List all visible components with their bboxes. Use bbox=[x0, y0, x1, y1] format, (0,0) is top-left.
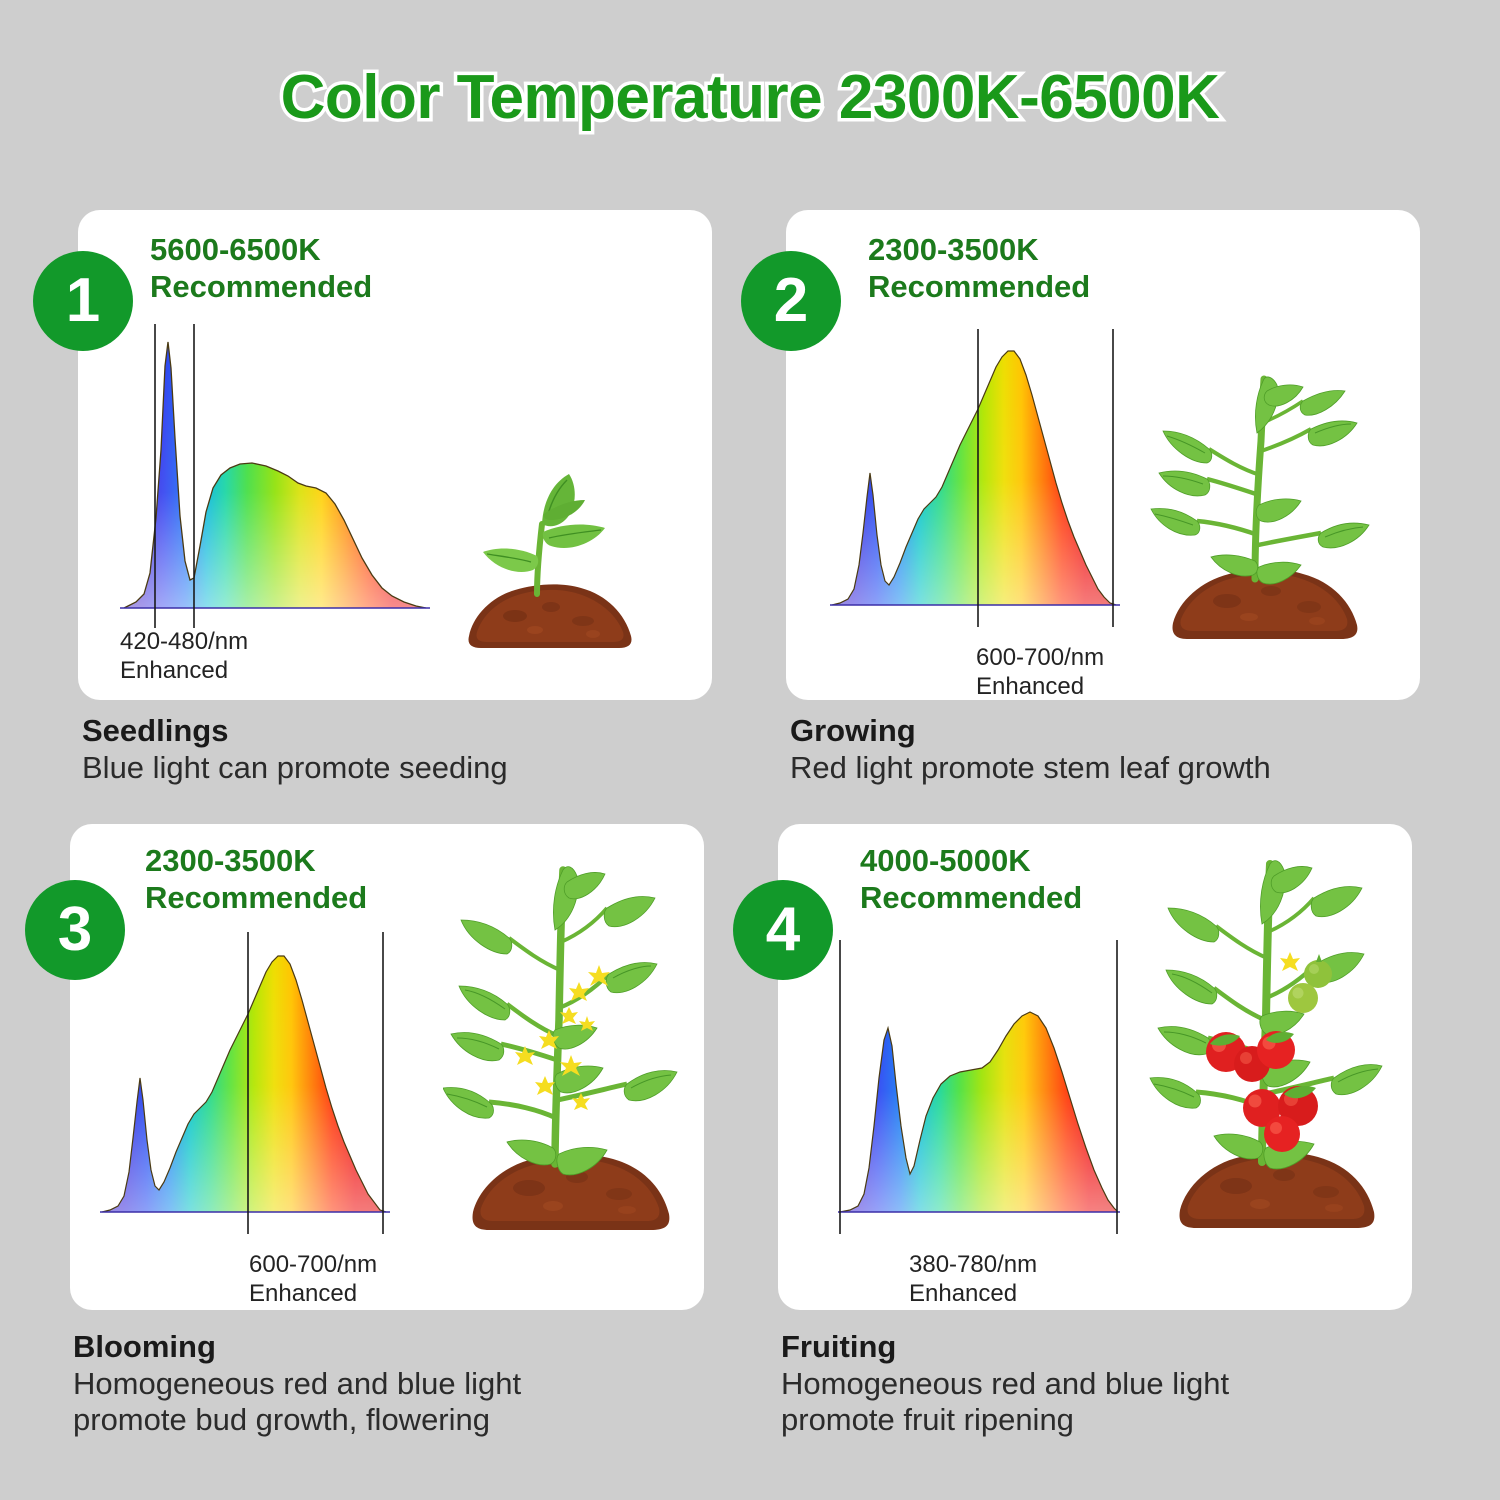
caption-growing: Growing Red light promote stem leaf grow… bbox=[790, 712, 1271, 786]
panel-badge-4: 4 bbox=[733, 880, 833, 980]
nm-annotation-3: 600-700/nm Enhanced bbox=[249, 1250, 377, 1309]
panel-kelvin-3: 2300-3500K Recommended bbox=[145, 843, 367, 916]
stage-label-2: Growing bbox=[790, 712, 1271, 750]
panel-kelvin-2: 2300-3500K Recommended bbox=[868, 232, 1090, 305]
spectrum-chart-1 bbox=[120, 330, 430, 625]
plant-young-tomato-icon bbox=[1145, 375, 1375, 660]
spectrum-chart-4 bbox=[838, 950, 1120, 1232]
stage-label-4: Fruiting bbox=[781, 1328, 1229, 1366]
panel-badge-1: 1 bbox=[33, 251, 133, 351]
flower-icon bbox=[1280, 952, 1300, 971]
caption-seedlings: Seedlings Blue light can promote seeding bbox=[82, 712, 508, 786]
caption-blooming: Blooming Homogeneous red and blue light … bbox=[73, 1328, 521, 1439]
stage-description-2: Red light promote stem leaf growth bbox=[790, 750, 1271, 787]
spectrum-fill-2 bbox=[830, 337, 1120, 625]
plant-fruiting-tomato-icon bbox=[1148, 858, 1383, 1258]
stage-description-3: Homogeneous red and blue light promote b… bbox=[73, 1366, 521, 1439]
spectrum-chart-2 bbox=[830, 337, 1120, 625]
panel-kelvin-4: 4000-5000K Recommended bbox=[860, 843, 1082, 916]
panel-badge-2: 2 bbox=[741, 251, 841, 351]
spectrum-fill-1 bbox=[120, 330, 430, 625]
nm-annotation-2: 600-700/nm Enhanced bbox=[976, 643, 1104, 702]
plant-flowering-tomato-icon bbox=[443, 860, 678, 1260]
stage-description-4: Homogeneous red and blue light promote f… bbox=[781, 1366, 1229, 1439]
caption-fruiting: Fruiting Homogeneous red and blue light … bbox=[781, 1328, 1229, 1439]
spectrum-chart-3 bbox=[100, 940, 390, 1232]
panel-kelvin-1: 5600-6500K Recommended bbox=[150, 232, 372, 305]
plant-seedling-icon bbox=[443, 466, 658, 656]
spectrum-fill-4 bbox=[838, 950, 1120, 1232]
page-title: Color Temperature 2300K-6500K bbox=[0, 62, 1500, 133]
panel-badge-3: 3 bbox=[25, 880, 125, 980]
stage-label-1: Seedlings bbox=[82, 712, 508, 750]
nm-annotation-1: 420-480/nm Enhanced bbox=[120, 627, 248, 686]
nm-annotation-4: 380-780/nm Enhanced bbox=[909, 1250, 1037, 1309]
infographic-page: Color Temperature 2300K-6500K 1 5600-650… bbox=[0, 0, 1500, 1500]
stage-description-1: Blue light can promote seeding bbox=[82, 750, 508, 787]
spectrum-fill-3 bbox=[100, 940, 390, 1232]
stage-label-3: Blooming bbox=[73, 1328, 521, 1366]
